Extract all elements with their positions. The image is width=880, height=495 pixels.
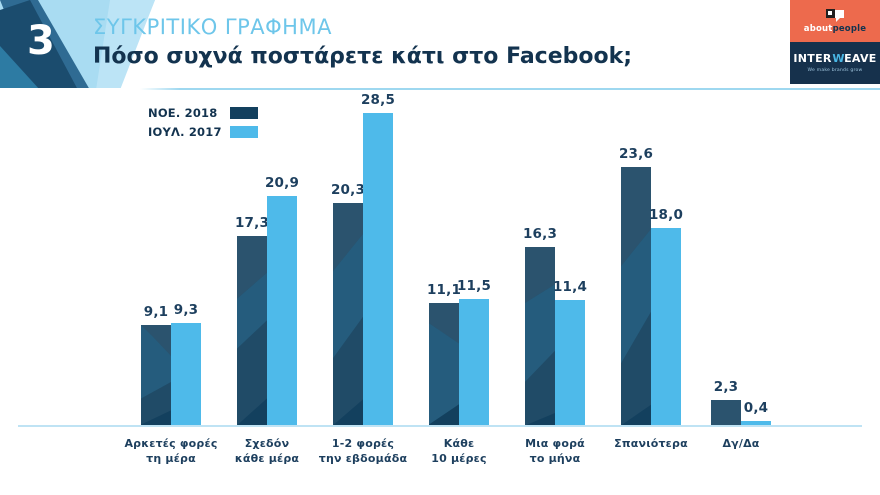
value-label-nov2018-6: 2,3: [703, 379, 749, 395]
bar-jul2017-6: [741, 421, 771, 425]
bar-jul2017-2: [363, 113, 393, 425]
bar-nov2018-3: [429, 303, 459, 425]
value-label-jul2017-2: 28,5: [355, 92, 401, 108]
value-label-jul2017-3: 11,5: [451, 278, 497, 294]
bar-nov2018-2: [333, 203, 363, 425]
bar-jul2017-3: [459, 299, 489, 425]
x-axis-line: [18, 425, 862, 427]
value-label-jul2017-5: 18,0: [643, 207, 689, 223]
bar-nov2018-5: [621, 167, 651, 425]
bar-nov2018-4: [525, 247, 555, 425]
bar-facet-texture: [429, 303, 459, 425]
bar-jul2017-0: [171, 323, 201, 425]
slide-canvas: 3 ΣΥΓΚΡΙΤΙΚΟ ΓΡΑΦΗΜΑ Πόσο συχνά ποστάρετ…: [0, 0, 880, 495]
value-label-jul2017-0: 9,3: [163, 302, 209, 318]
bar-facet-texture: [621, 167, 651, 425]
bar-jul2017-1: [267, 196, 297, 425]
bar-facet-texture: [333, 203, 363, 425]
bar-jul2017-4: [555, 300, 585, 425]
bar-nov2018-1: [237, 236, 267, 425]
value-label-jul2017-1: 20,9: [259, 175, 305, 191]
value-label-nov2018-5: 23,6: [613, 146, 659, 162]
category-label-line: το μήνα: [495, 451, 615, 466]
bar-chart-plot: 9,117,320,311,116,323,62,39,320,928,511,…: [0, 0, 880, 495]
bar-nov2018-0: [141, 325, 171, 425]
category-label-6: Δγ/Δα: [681, 436, 801, 451]
value-label-nov2018-4: 16,3: [517, 226, 563, 242]
bar-facet-texture: [525, 247, 555, 425]
category-label-line: Δγ/Δα: [681, 436, 801, 451]
slide-number: 3: [27, 18, 55, 64]
bar-facet-texture: [237, 236, 267, 425]
bar-jul2017-5: [651, 228, 681, 425]
value-label-jul2017-6: 0,4: [733, 400, 779, 416]
bar-facet-texture: [141, 325, 171, 425]
value-label-jul2017-4: 11,4: [547, 279, 593, 295]
